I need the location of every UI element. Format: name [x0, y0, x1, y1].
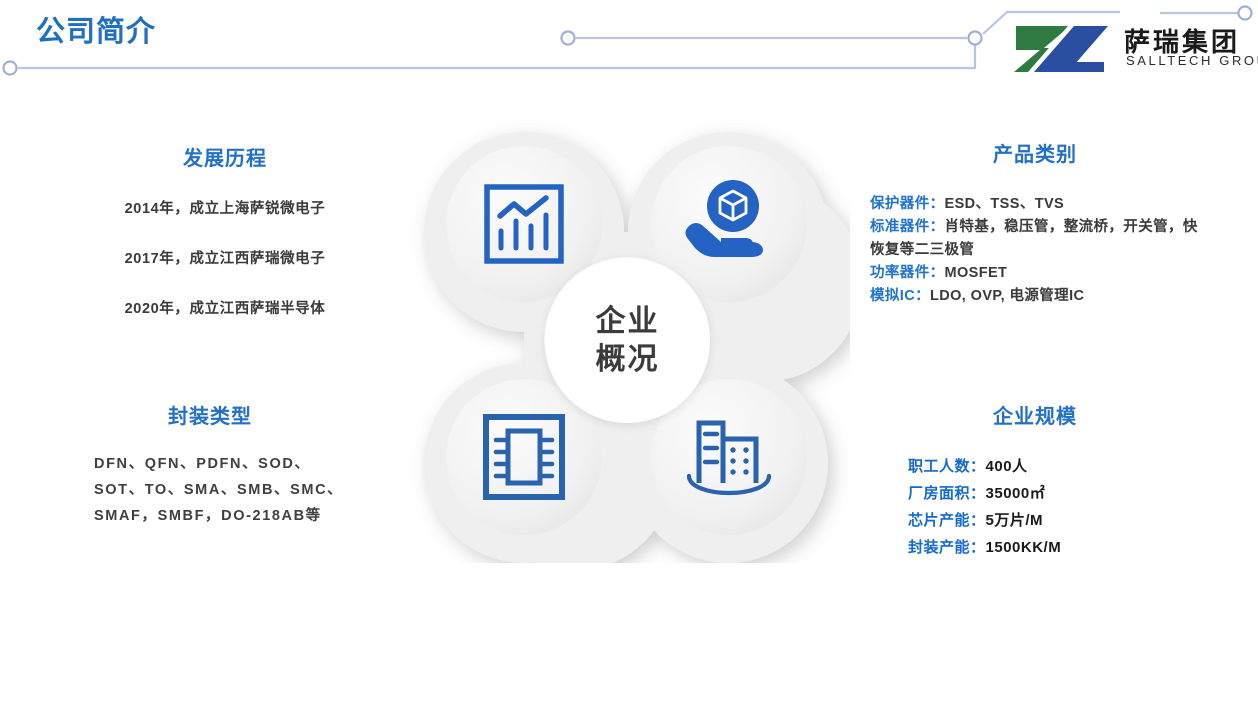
- list-item: 厂房面积：35000㎡: [908, 480, 1190, 507]
- deco-node-right: [1239, 7, 1252, 20]
- scale-label: 封装产能：: [908, 539, 986, 556]
- deco-node-mid-left: [562, 32, 575, 45]
- package-types-text: DFN、QFN、PDFN、SOD、SOT、TO、SMA、SMB、SMC、SMAF…: [60, 451, 360, 529]
- panel-title-package: 封装类型: [60, 400, 360, 429]
- slide-root: 公司简介 萨瑞集团 SALLTECH GROUP 发展历程 2014年，成立上海…: [0, 0, 1258, 706]
- deco-node-left: [4, 62, 17, 75]
- panel-product-categories: 产品类别 保护器件：ESD、TSS、TVS 标准器件：肖特基，稳压管，整流桥，开…: [870, 138, 1200, 308]
- company-logo: 萨瑞集团 SALLTECH GROUP: [1008, 20, 1248, 82]
- history-list: 2014年，成立上海萨锐微电子 2017年，成立江西萨瑞微电子 2020年，成立…: [60, 197, 390, 318]
- panel-company-scale: 企业规模 职工人数：400人 厂房面积：35000㎡ 芯片产能：5万片/M 封装…: [880, 400, 1190, 561]
- central-diagram: 企业 概况: [410, 118, 850, 563]
- panel-title-history: 发展历程: [60, 142, 390, 171]
- scale-label: 厂房面积：: [908, 485, 986, 502]
- diagram-hub: 企业 概况: [545, 258, 710, 423]
- scale-value: 1500KK/M: [986, 539, 1062, 556]
- hub-line-2: 概况: [596, 341, 660, 379]
- scale-value: 35000㎡: [986, 485, 1046, 502]
- list-item: 2020年，成立江西萨瑞半导体: [60, 297, 390, 318]
- product-value: MOSFET: [945, 265, 1008, 281]
- list-item: 2014年，成立上海萨锐微电子: [60, 197, 390, 218]
- scale-value: 400人: [986, 458, 1028, 475]
- list-item: 标准器件：肖特基，稳压管，整流桥，开关管，快恢复等二三极管: [870, 216, 1200, 262]
- list-item: 封装产能：1500KK/M: [908, 534, 1190, 561]
- scale-value: 5万片/M: [986, 512, 1044, 529]
- list-item: 保护器件：ESD、TSS、TVS: [870, 193, 1200, 216]
- deco-node-mid-right: [969, 32, 982, 45]
- product-value: LDO, OVP, 电源管理IC: [930, 288, 1084, 304]
- list-item: 功率器件：MOSFET: [870, 262, 1200, 285]
- scale-list: 职工人数：400人 厂房面积：35000㎡ 芯片产能：5万片/M 封装产能：15…: [880, 453, 1190, 561]
- page-title: 公司简介: [36, 8, 156, 50]
- product-label: 标准器件：: [870, 219, 945, 235]
- product-label: 功率器件：: [870, 265, 945, 281]
- list-item: 模拟IC：LDO, OVP, 电源管理IC: [870, 285, 1200, 308]
- list-item: 2017年，成立江西萨瑞微电子: [60, 247, 390, 268]
- product-label: 保护器件：: [870, 196, 945, 212]
- logo-mark-icon: [1008, 20, 1112, 78]
- product-list: 保护器件：ESD、TSS、TVS 标准器件：肖特基，稳压管，整流桥，开关管，快恢…: [870, 193, 1200, 308]
- panel-title-products: 产品类别: [870, 138, 1200, 167]
- list-item: 职工人数：400人: [908, 453, 1190, 480]
- list-item: 芯片产能：5万片/M: [908, 507, 1190, 534]
- scale-label: 芯片产能：: [908, 512, 986, 529]
- logo-text-en: SALLTECH GROUP: [1126, 53, 1258, 68]
- panel-package-types: 封装类型 DFN、QFN、PDFN、SOD、SOT、TO、SMA、SMB、SMC…: [60, 400, 360, 529]
- hub-line-1: 企业: [596, 303, 660, 341]
- panel-development-history: 发展历程 2014年，成立上海萨锐微电子 2017年，成立江西萨瑞微电子 202…: [60, 142, 390, 347]
- scale-label: 职工人数：: [908, 458, 986, 475]
- panel-title-scale: 企业规模: [880, 400, 1190, 429]
- product-value: ESD、TSS、TVS: [945, 196, 1065, 212]
- product-label: 模拟IC：: [870, 288, 930, 304]
